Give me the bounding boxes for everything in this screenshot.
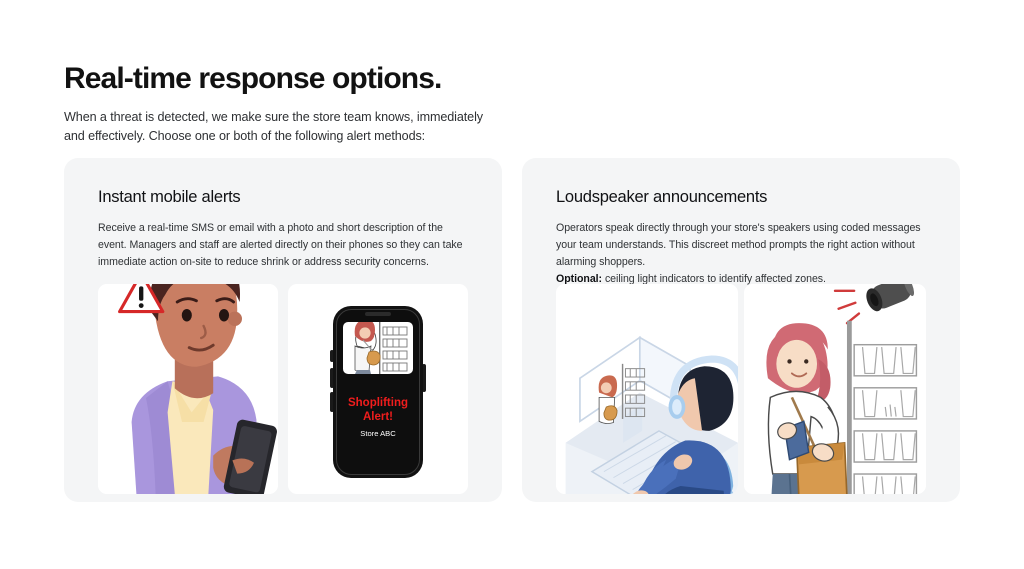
phone-alert-store: Store ABC [288,429,468,438]
card-loudspeaker-announcements: Loudspeaker announcements Operators spea… [522,158,960,502]
operator-at-monitor-illustration [556,284,738,494]
card-image-tiles: Shoplifting Alert! Store ABC [98,284,468,494]
card-image-tiles [556,284,926,494]
shopper-at-shelves-illustration [744,284,926,494]
page-subtitle: When a threat is detected, we make sure … [64,108,494,146]
card-body: Operators speak directly through your st… [556,220,926,289]
phone-alert-line2: Alert! [288,410,468,424]
card-title: Loudspeaker announcements [556,188,926,207]
card-title: Instant mobile alerts [98,188,468,207]
slide-root: Real-time response options. When a threa… [0,0,1024,569]
card-instant-mobile-alerts: Instant mobile alerts Receive a real-tim… [64,158,502,502]
phone-alert-illustration: Shoplifting Alert! Store ABC [288,284,468,494]
page-title: Real-time response options. [64,62,441,97]
card-body: Receive a real-time SMS or email with a … [98,220,468,271]
manager-with-phone-illustration [98,284,278,494]
cards-container: Instant mobile alerts Receive a real-tim… [64,158,960,502]
card-body-text: Operators speak directly through your st… [556,222,921,268]
phone-alert-line1: Shoplifting [288,396,468,410]
